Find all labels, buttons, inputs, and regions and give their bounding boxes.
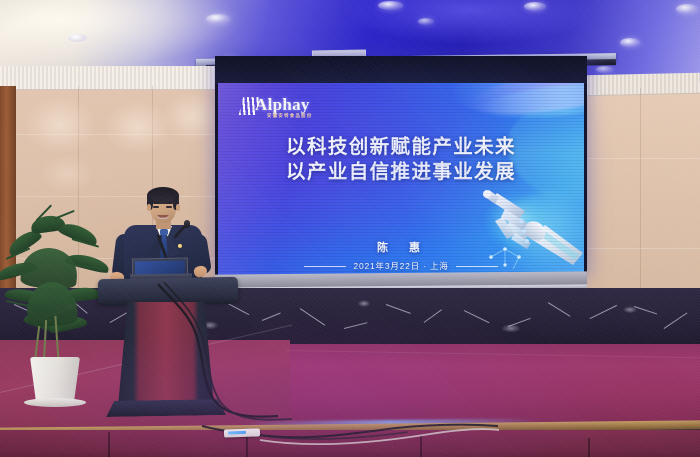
wall-panel-seam (584, 248, 700, 249)
slide-dateline: 2021年3月22日 · 上海 (218, 260, 584, 272)
dateline-rule-left (304, 266, 346, 267)
lapel-pin-icon (178, 244, 182, 248)
wall-panel-seam (16, 134, 228, 135)
slide-date-text: 2021年3月22日 · 上海 (353, 260, 448, 272)
conference-photo: Alphay 安徽安特食品股份 (0, 0, 700, 457)
slide-speaker-name: 陈 惠 (218, 239, 584, 255)
logo-wordmark: Alphay (255, 95, 310, 115)
hedge-twig (508, 318, 531, 327)
hedge-twig (590, 305, 618, 319)
downlight (676, 4, 698, 14)
podium-cable (142, 282, 302, 422)
speaker-tie-knot (160, 229, 168, 235)
microphone-icon (184, 220, 190, 228)
downlight (378, 1, 403, 10)
downlight (418, 18, 434, 25)
stage-panel-divider (588, 438, 590, 457)
hedge-twig (634, 306, 657, 315)
hedge-twig (424, 309, 443, 323)
crown-molding-left (0, 66, 232, 90)
plant-saucer (24, 398, 86, 407)
hedge-twig (464, 310, 490, 324)
logo-subtitle: 安徽安特食品股份 (267, 113, 313, 119)
slide-content: Alphay 安徽安特食品股份 (218, 83, 584, 275)
led-display-screen: Alphay 安徽安特食品股份 (215, 56, 587, 278)
plant-pot (30, 357, 80, 402)
stage-panel-divider (108, 432, 110, 457)
speaker-mouth (157, 215, 169, 219)
palm-stem (34, 326, 40, 362)
speaker-ear (176, 204, 180, 211)
power-strip (224, 428, 260, 437)
downlight (620, 38, 640, 47)
logo-word-rest: lphay (268, 95, 310, 114)
slide-title-line-2: 以产业自信推进事业发展 (218, 160, 584, 185)
speaker-ear (147, 204, 151, 211)
crown-molding-right (586, 73, 700, 96)
wall-panel-seam (584, 158, 700, 159)
potted-palm (2, 212, 110, 402)
hedge-twig (548, 302, 571, 317)
downlight (524, 2, 546, 11)
speaker-brow (166, 202, 173, 204)
slide-title-line-1: 以科技创新赋能产业未来 (218, 135, 584, 160)
downlight (68, 34, 87, 42)
downlight (596, 66, 613, 73)
downlight (206, 14, 230, 24)
slide-title: 以科技创新赋能产业未来 以产业自信推进事业发展 (218, 135, 584, 185)
hedge-twig (386, 304, 411, 314)
screen-top-bezel (215, 56, 587, 84)
podium-area (98, 186, 238, 416)
palm-leaf (54, 210, 75, 220)
alphay-logo: Alphay 安徽安特食品股份 (241, 95, 333, 121)
hedge-twig (664, 312, 688, 329)
hedge-twig (344, 322, 368, 329)
power-strip-indicator (228, 431, 246, 435)
hedge-twig (300, 308, 326, 326)
dateline-rule-right (456, 266, 498, 267)
speaker-brow (153, 202, 160, 204)
logo-initial: A (255, 95, 268, 114)
